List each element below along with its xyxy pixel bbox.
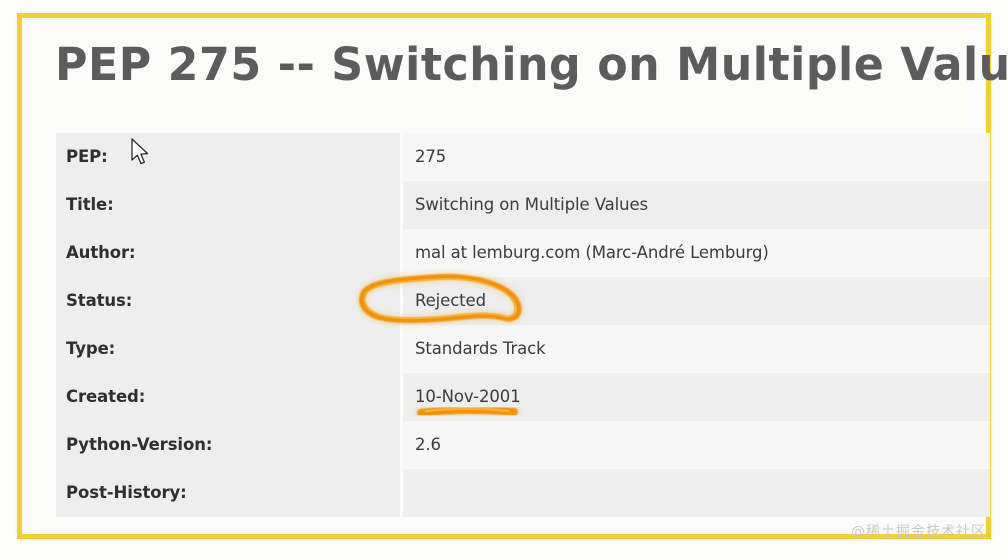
field-label-author: Author: bbox=[56, 229, 400, 277]
field-label-title: Title: bbox=[56, 181, 400, 229]
field-value-created: 10-Nov-2001 bbox=[400, 373, 990, 421]
table-row: Created: 10-Nov-2001 bbox=[56, 373, 990, 421]
field-value-post-history bbox=[400, 469, 990, 517]
field-value-type: Standards Track bbox=[400, 325, 990, 373]
table-row: Author: mal at lemburg.com (Marc-André L… bbox=[56, 229, 990, 277]
table-row: Type: Standards Track bbox=[56, 325, 990, 373]
table-row: PEP: 275 bbox=[56, 133, 990, 181]
field-label-status: Status: bbox=[56, 277, 400, 325]
table-row: Title: Switching on Multiple Values bbox=[56, 181, 990, 229]
field-label-python-version: Python-Version: bbox=[56, 421, 400, 469]
page-title: PEP 275 -- Switching on Multiple Values bbox=[55, 39, 1008, 91]
field-value-author: mal at lemburg.com (Marc-André Lemburg) bbox=[400, 229, 990, 277]
field-value-pep: 275 bbox=[400, 133, 990, 181]
table-row: Python-Version: 2.6 bbox=[56, 421, 990, 469]
field-label-created: Created: bbox=[56, 373, 400, 421]
field-value-python-version: 2.6 bbox=[400, 421, 990, 469]
arrow-pointer-icon bbox=[130, 138, 152, 168]
field-value-status: Rejected bbox=[400, 277, 990, 325]
table-row: Status: Rejected bbox=[56, 277, 990, 325]
field-label-pep: PEP: bbox=[56, 133, 400, 181]
highlight-frame: PEP 275 -- Switching on Multiple Values … bbox=[17, 13, 991, 539]
field-label-type: Type: bbox=[56, 325, 400, 373]
table-row: Post-History: bbox=[56, 469, 990, 517]
watermark: @稀土掘金技术社区 bbox=[851, 521, 986, 541]
screenshot-canvas: PEP 275 -- Switching on Multiple Values … bbox=[0, 0, 1008, 559]
pep-header-table: PEP: 275 Title: Switching on Multiple Va… bbox=[56, 133, 990, 517]
field-label-post-history: Post-History: bbox=[56, 469, 400, 517]
field-value-title: Switching on Multiple Values bbox=[400, 181, 990, 229]
pep-header-table-body: PEP: 275 Title: Switching on Multiple Va… bbox=[56, 133, 990, 517]
